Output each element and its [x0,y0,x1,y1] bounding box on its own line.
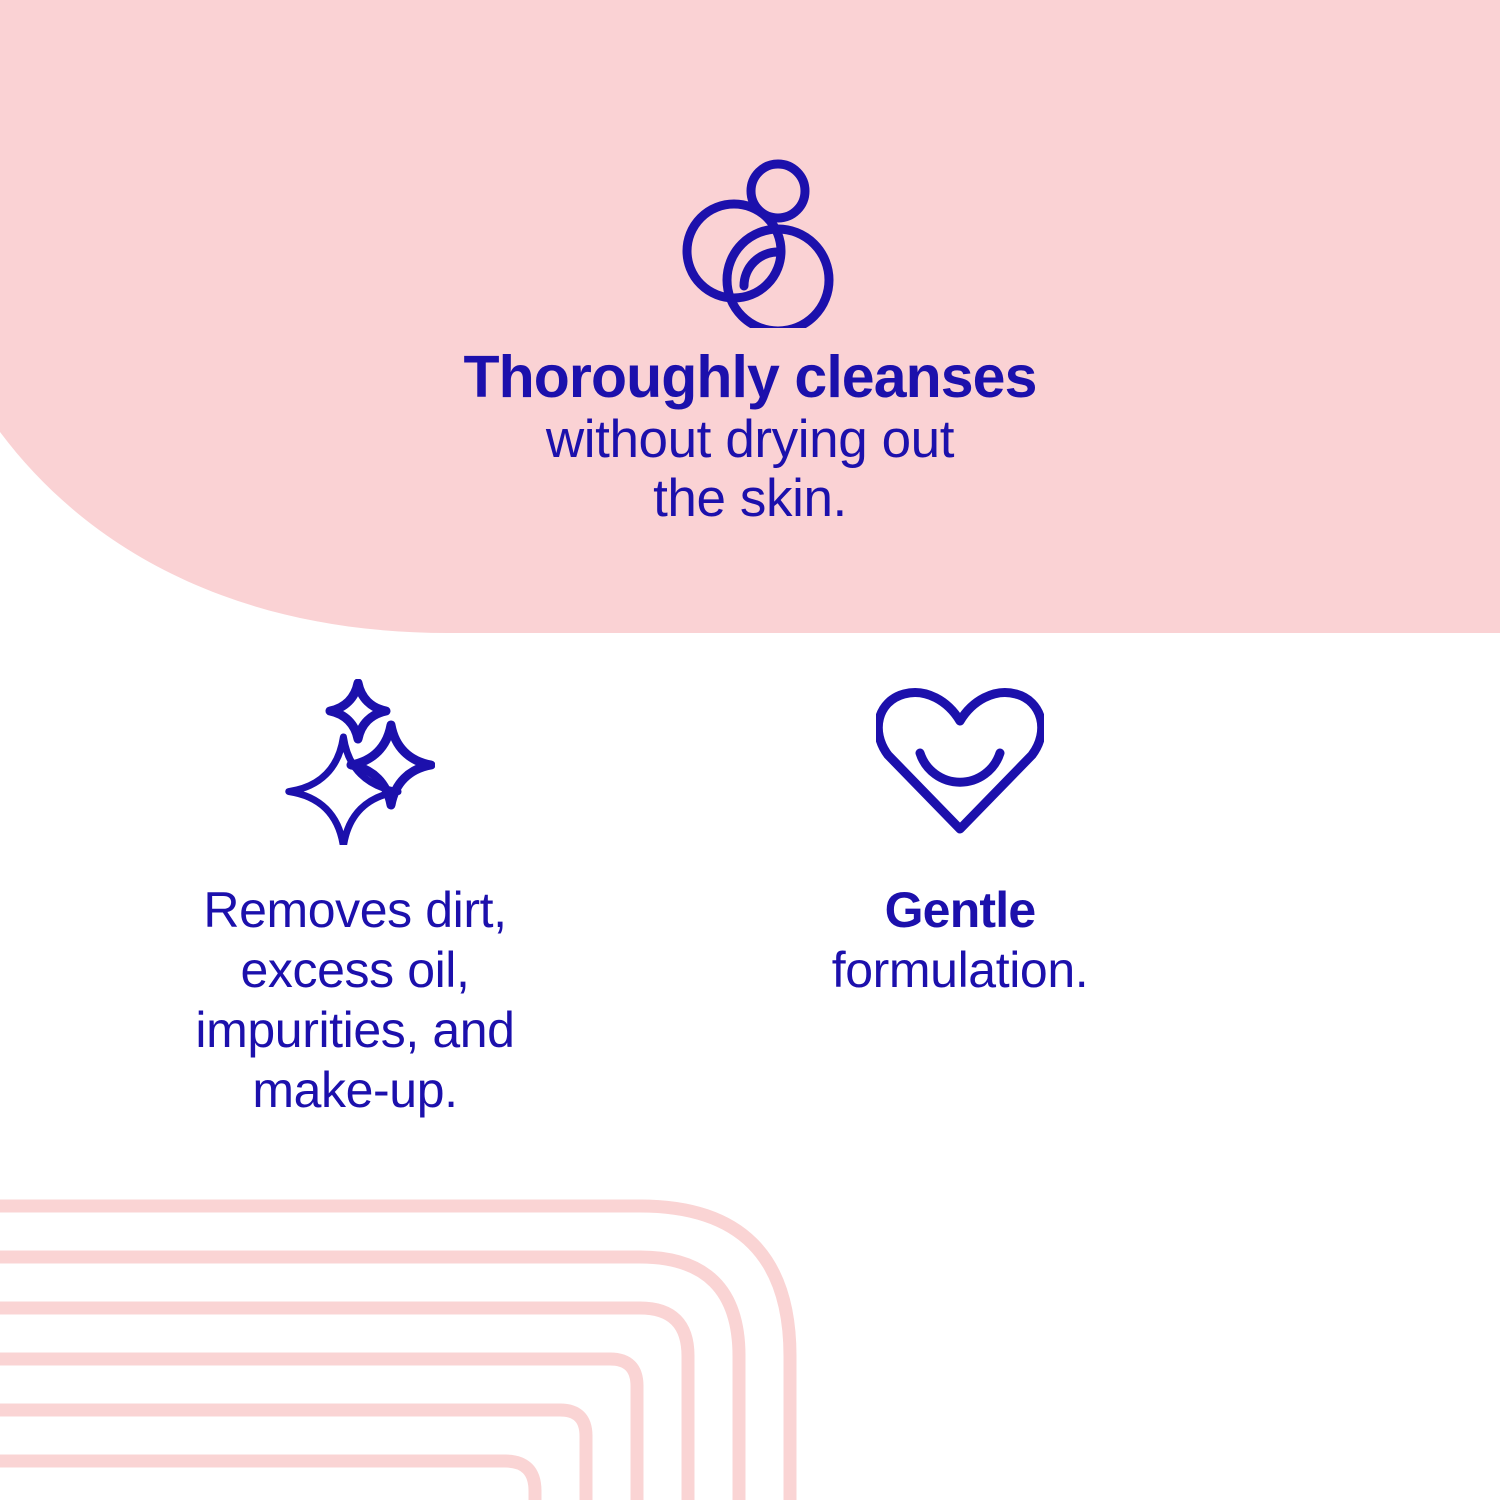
features-section: Removes dirt, excess oil, impurities, an… [0,672,1500,1120]
sparkles-icon-wrap [267,672,443,852]
feature-left-line-3: impurities, and [195,1000,514,1060]
sparkles-icon [275,679,435,845]
bubbles-icon [665,158,835,328]
heart-smile-icon [876,687,1044,837]
hero-section: Thoroughly cleanses without drying out t… [0,0,1500,640]
feature-left-line-1: Removes dirt, [195,880,514,940]
feature-left-line-4: make-up. [195,1060,514,1120]
hero-headline-bold: Thoroughly cleanses [463,344,1036,410]
feature-right-text: Gentle formulation. [832,880,1088,1000]
feature-gentle-formulation: Gentle formulation. [680,672,1240,1000]
hero-headline-line3: the skin. [463,469,1036,528]
feature-removes-dirt: Removes dirt, excess oil, impurities, an… [75,672,635,1120]
heart-smile-icon-wrap [872,672,1048,852]
hero-headline-line2: without drying out [463,410,1036,469]
feature-left-text: Removes dirt, excess oil, impurities, an… [195,880,514,1120]
feature-right-line-1: formulation. [832,940,1088,1000]
infographic-canvas: Thoroughly cleanses without drying out t… [0,0,1500,1500]
feature-left-line-2: excess oil, [195,940,514,1000]
feature-right-bold-line: Gentle [832,880,1088,940]
hero-headline: Thoroughly cleanses without drying out t… [463,344,1036,529]
